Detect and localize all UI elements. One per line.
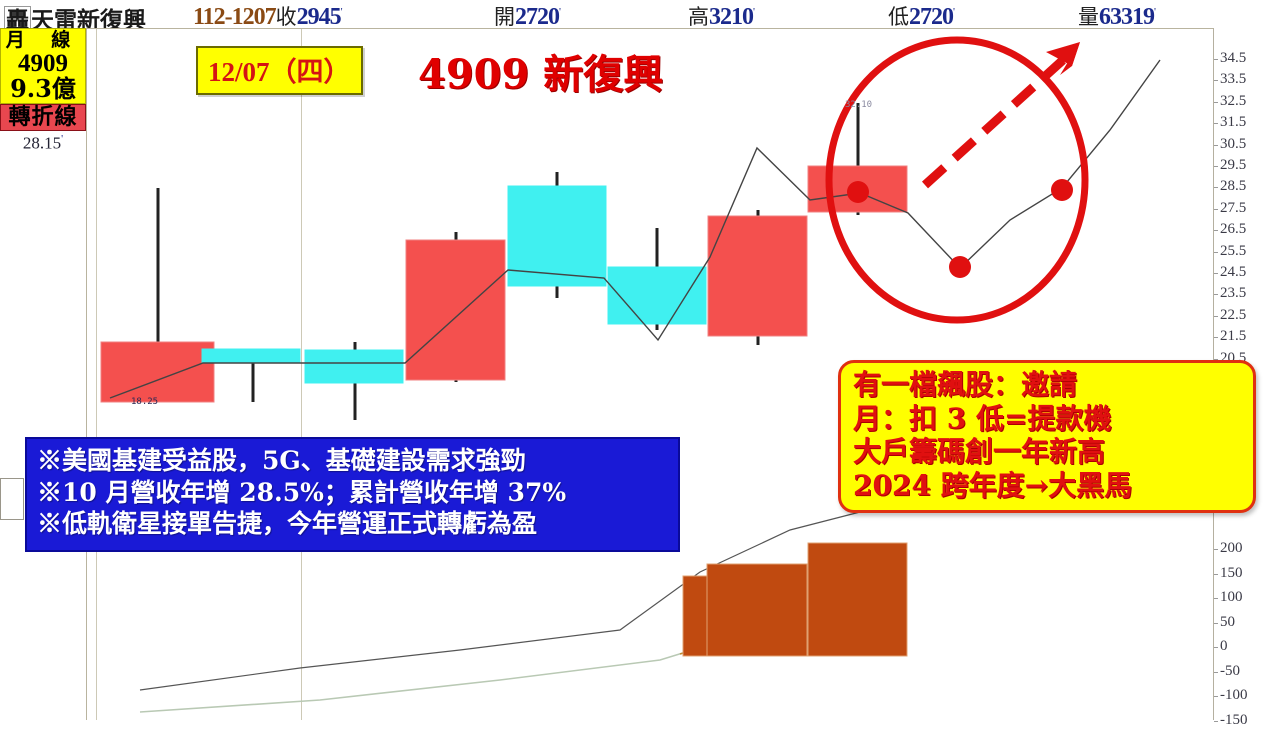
stock-chart-app: 轟天雷新復興 112-1207收2945' 開2720' 高3210' 低272… (0, 0, 1280, 720)
candlestick-series (101, 103, 907, 420)
price-dot-marker (847, 181, 869, 203)
volume-bar (808, 543, 907, 656)
note-line: ※美國基建受益股，5G、基礎建設需求強勁 (37, 445, 668, 477)
candle-body-up (708, 216, 807, 336)
volume-bar-series (683, 543, 907, 656)
promo-line: 月：扣 3 低=提款機 (853, 402, 1245, 436)
candle-body-down (305, 350, 403, 383)
promo-note-box[interactable]: 有一檔飆股：邀請 月：扣 3 低=提款機 大戶籌碼創一年新高 2024 跨年度→… (838, 360, 1256, 513)
volume-axis-tick (1214, 721, 1218, 722)
promo-line: 2024 跨年度→大黑馬 (853, 469, 1245, 503)
moving-average-line (110, 60, 1160, 398)
price-dot-marker (1051, 179, 1073, 201)
fundamental-note-box[interactable]: ※美國基建受益股，5G、基礎建設需求強勁 ※10 月營收年增 28.5%；累計營… (25, 437, 680, 552)
note-line: ※10 月營收年增 28.5%；累計營收年增 37% (37, 477, 668, 509)
page-title: 4909 新復興 (418, 42, 663, 100)
candle-high-label: 32.10 (845, 100, 872, 110)
up-arrow-annotation (925, 42, 1080, 185)
candle-low-label: 18.25 (131, 397, 158, 407)
promo-line: 有一檔飆股：邀請 (853, 368, 1245, 402)
price-dot-marker (949, 256, 971, 278)
candle-body-up (406, 240, 505, 380)
note-line: ※低軌衛星接單告捷，今年營運正式轉虧為盈 (37, 508, 668, 540)
date-badge[interactable]: 12/07（四） (196, 46, 363, 95)
candle-body-down (608, 267, 706, 324)
candle-body-flat (202, 349, 300, 363)
promo-line: 大戶籌碼創一年新高 (853, 435, 1245, 469)
volume-bar (707, 564, 807, 656)
candle-body-down (101, 342, 214, 402)
